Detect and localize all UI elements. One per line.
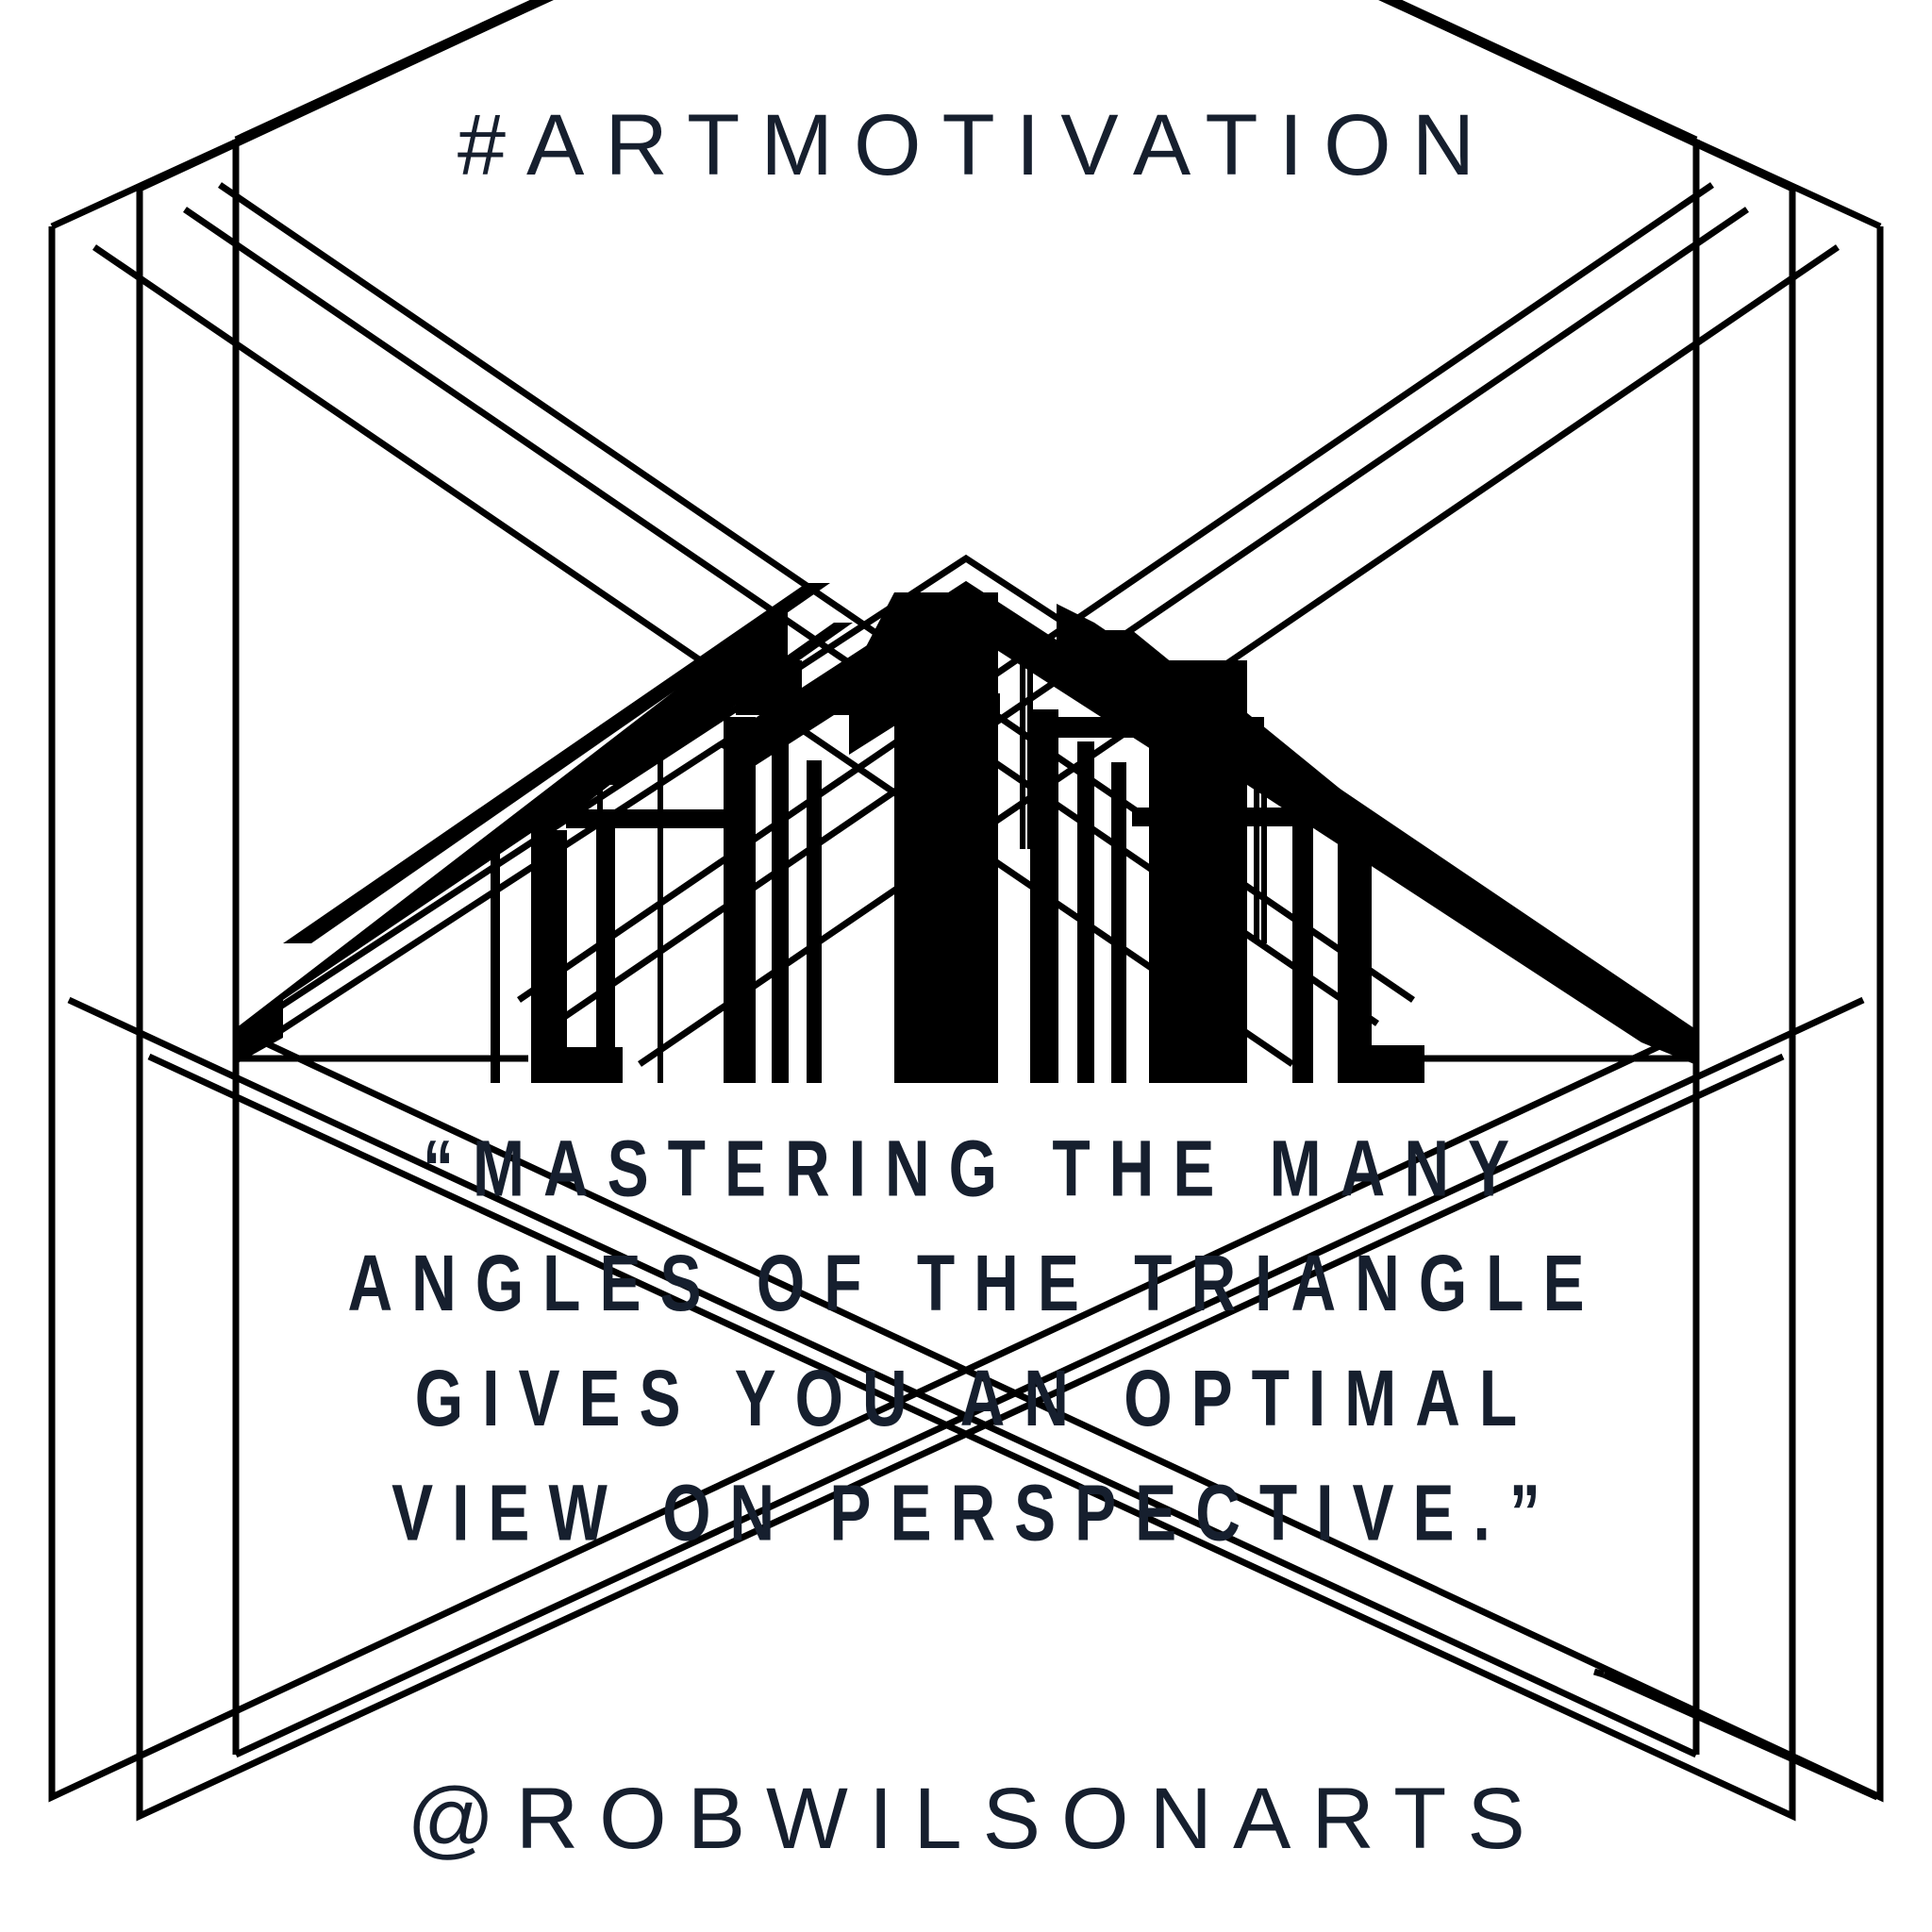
quote-line-4: VIEW ON PERSPECTIVE.” [0,1456,1932,1571]
page-title: #ARTMOTIVATION [0,102,1932,189]
quote-line-3: GIVES YOU AN OPTIMAL [0,1341,1932,1456]
artwork-svg [0,0,1932,1932]
quote-block: “MASTERING THE MANY ANGLES OF THE TRIANG… [0,1111,1932,1570]
artist-handle: @ROBWILSONARTS [0,1775,1932,1862]
poster-canvas: #ARTMOTIVATION “MASTERING THE MANY ANGLE… [0,0,1932,1932]
vertical-columns [236,583,1694,1083]
quote-line-1: “MASTERING THE MANY [0,1111,1932,1226]
quote-line-2: ANGLES OF THE TRIANGLE [0,1226,1932,1341]
